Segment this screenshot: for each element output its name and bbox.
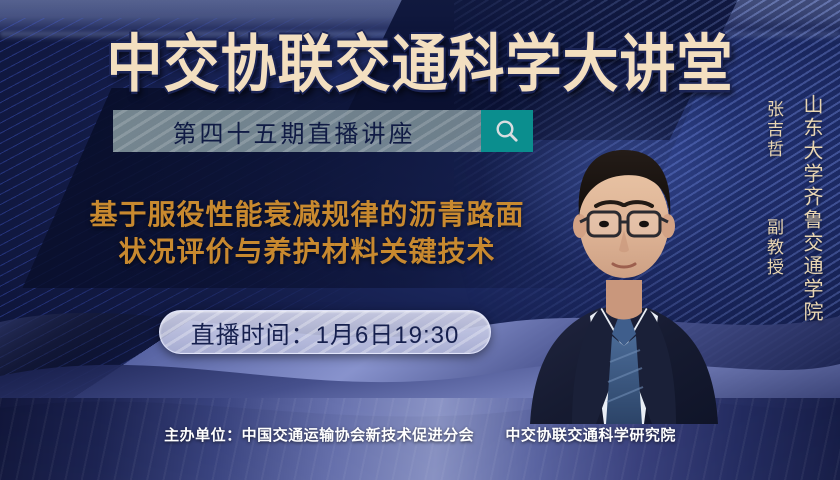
footer-institute: 中交协联交通科学研究院 [505,427,676,444]
speaker-name-title: 张吉哲 副教授 [761,100,786,278]
footer-organizers: 主办单位：中国交通运输协会新技术促进分会 中交协联交通科学研究院 [0,424,840,445]
footer-organizer: 主办单位：中国交通运输协会新技术促进分会 [164,427,474,444]
speaker-affiliation: 山东大学齐鲁交通学院 [797,94,826,324]
search-icon [493,117,521,145]
lecture-topic-line-1: 基于服役性能衰减规律的沥青路面 [22,196,592,233]
lecture-topic: 基于服役性能衰减规律的沥青路面 状况评价与养护材料关键技术 [22,196,592,270]
speaker-title: 副教授 [764,218,783,278]
lecture-topic-line-2: 状况评价与养护材料关键技术 [22,233,592,270]
broadcast-time-text: 直播时间：1月6日19:30 [191,315,460,350]
speaker-portrait [526,94,722,424]
episode-bar: 第四十五期直播讲座 [113,110,533,152]
speaker-name: 张吉哲 [764,100,783,160]
episode-label: 第四十五期直播讲座 [113,110,481,152]
broadcast-time-badge: 直播时间：1月6日19:30 [159,310,491,354]
live-lecture-poster: 中交协联交通科学大讲堂 第四十五期直播讲座 基于服役性能衰减规律的沥青路面 状况… [0,0,840,480]
page-title: 中交协联交通科学大讲堂 [0,14,840,105]
